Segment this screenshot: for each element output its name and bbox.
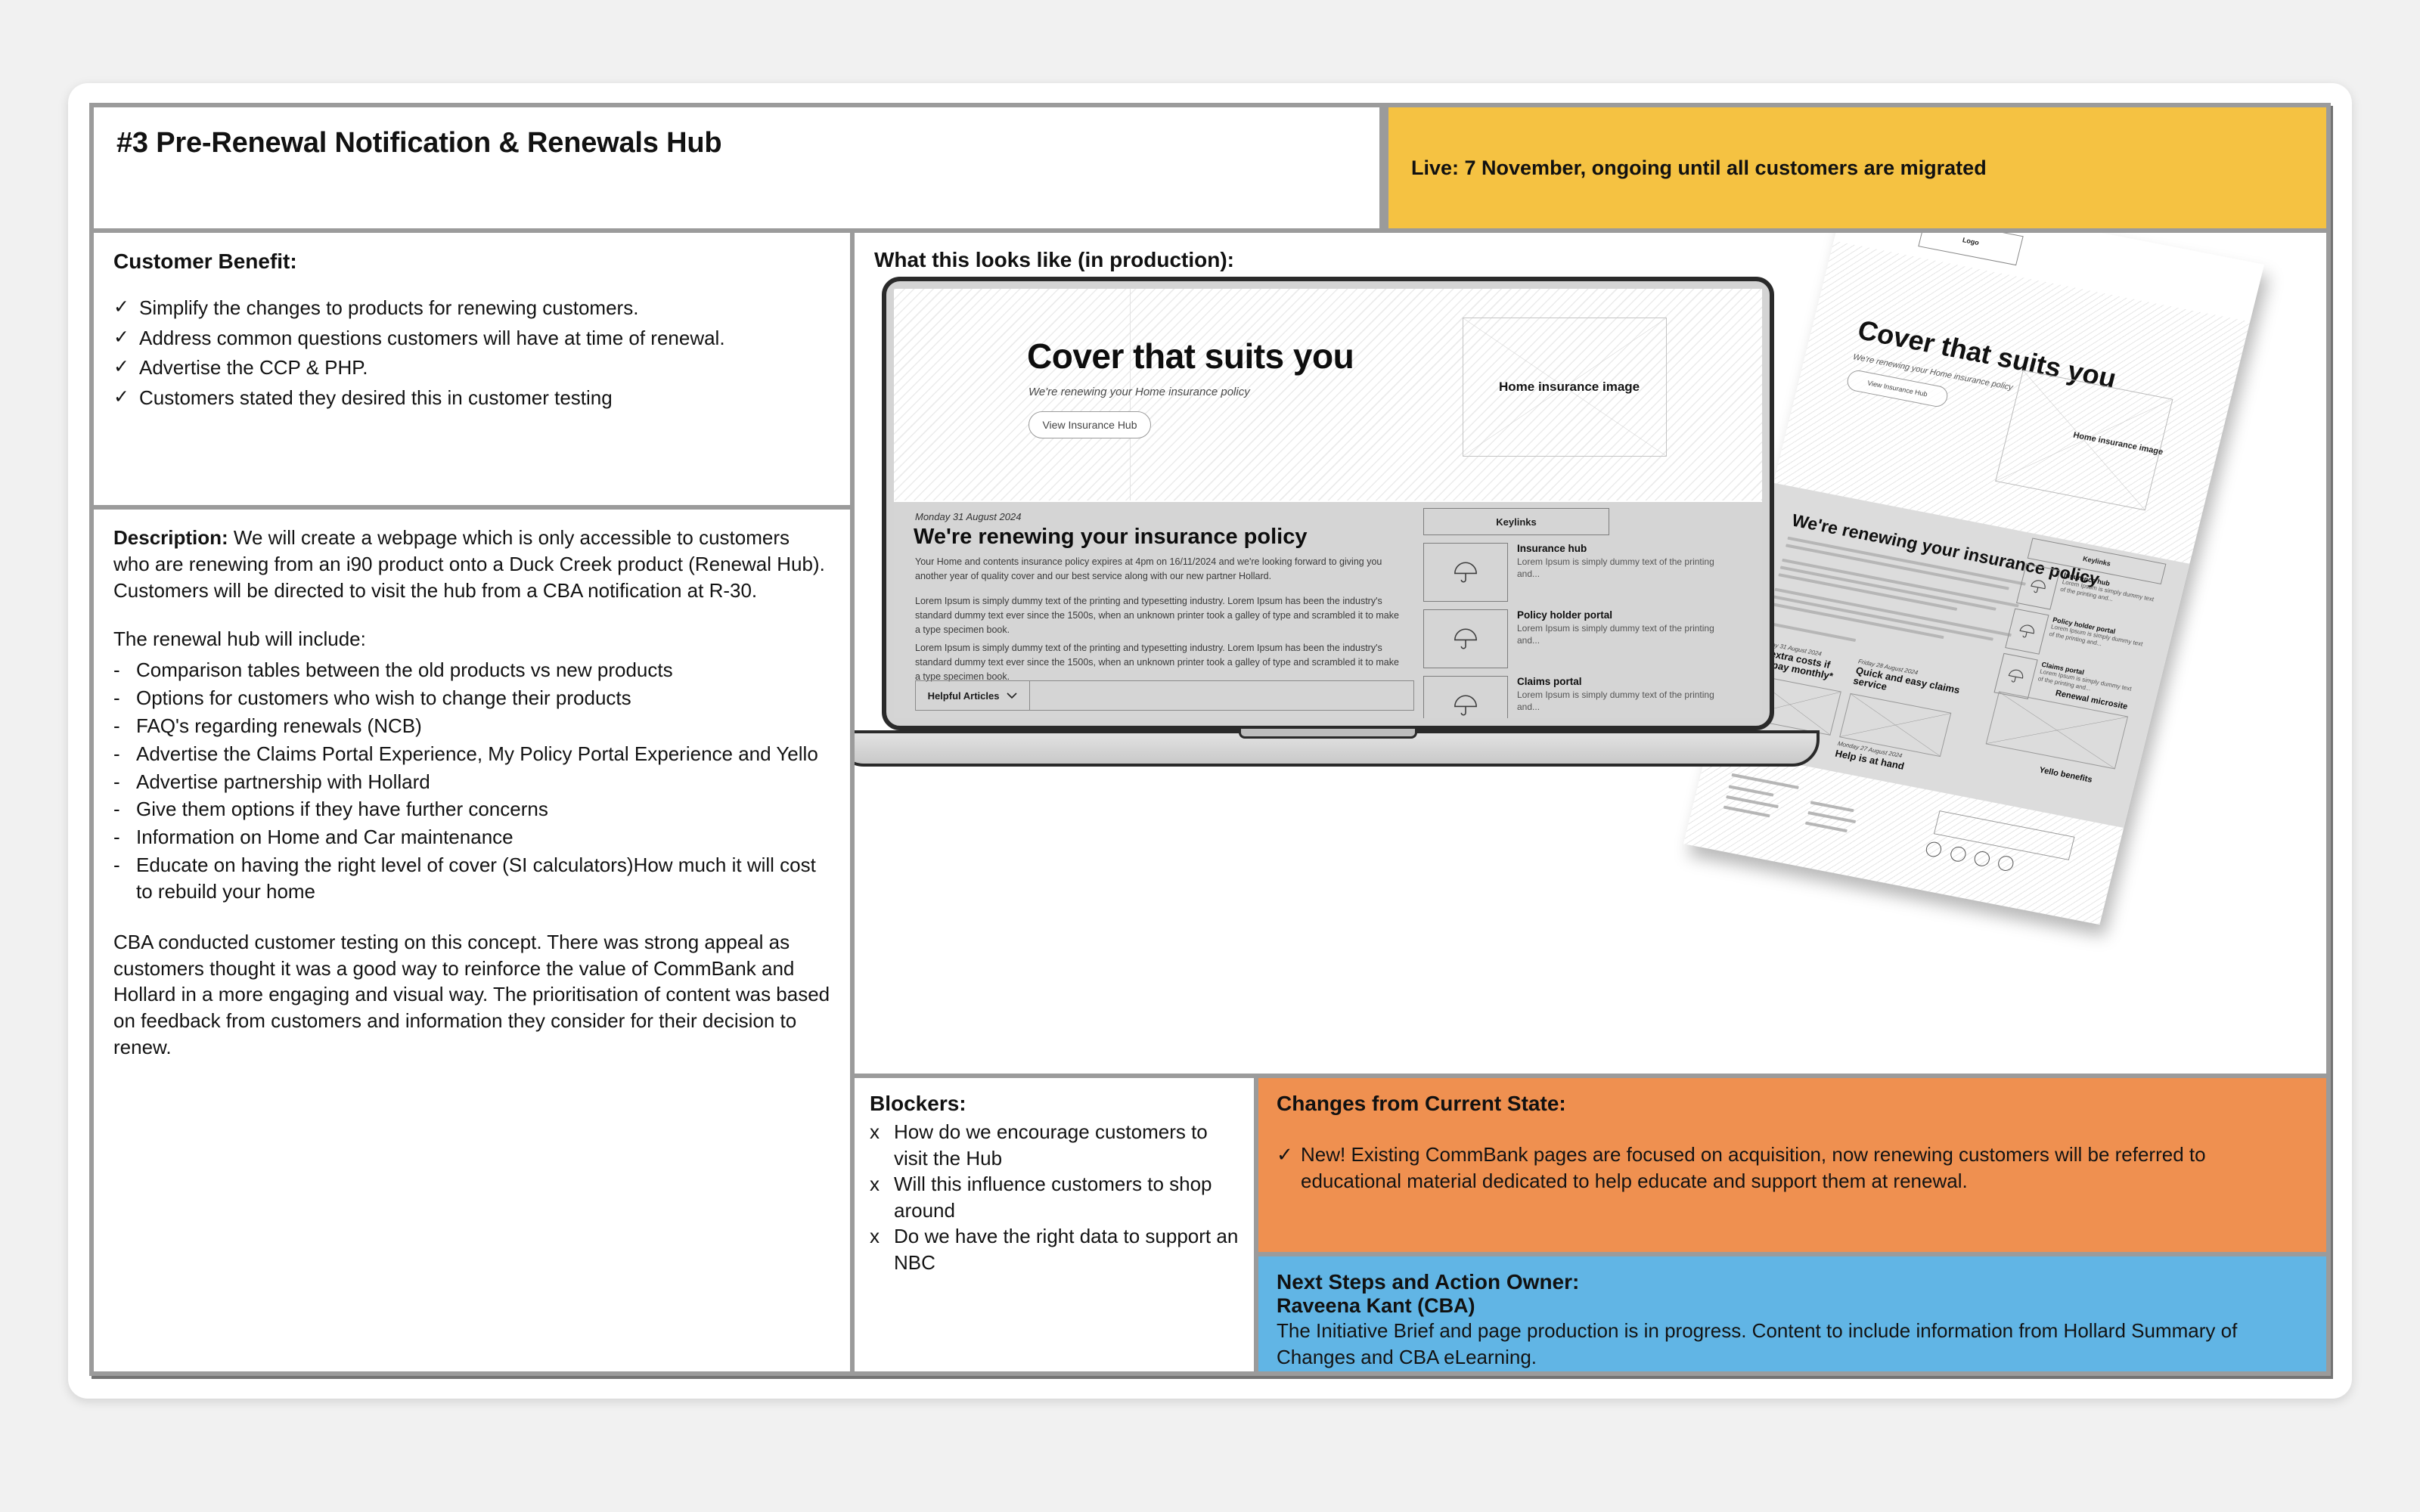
changes-body: New! Existing CommBank pages are focused… <box>1301 1142 2308 1194</box>
list-item-label: FAQ's regarding renewals (NCB) <box>136 713 422 739</box>
list-item-label: Address common questions customers will … <box>139 325 725 352</box>
dash-icon: - <box>113 852 136 905</box>
list-item-label: Comparison tables between the old produc… <box>136 657 673 683</box>
check-icon: ✓ <box>1277 1142 1301 1194</box>
next-steps-body: The Initiative Brief and page production… <box>1277 1318 2308 1371</box>
list-item-label: Give them options if they have further c… <box>136 796 548 823</box>
helpful-articles-bar: Helpful Articles <box>915 680 1414 711</box>
view-insurance-hub-button[interactable]: View Insurance Hub <box>1028 411 1151 438</box>
list-item: ✓ Customers stated they desired this in … <box>113 385 830 411</box>
keylink-title: Insurance hub <box>1517 543 1718 555</box>
list-item-label: Advertise the Claims Portal Experience, … <box>136 741 818 767</box>
keylink-item[interactable]: Insurance hub Lorem Ipsum is simply dumm… <box>1423 543 1718 602</box>
slide-title-cell: #3 Pre-Renewal Notification & Renewals H… <box>94 107 1379 228</box>
keylink-text: Lorem Ipsum is simply dummy text of the … <box>1517 689 1718 713</box>
changes-item: ✓ New! Existing CommBank pages are focus… <box>1277 1142 2308 1194</box>
list-item-label: Educate on having the right level of cov… <box>136 852 830 905</box>
live-status-badge: Live: 7 November, ongoing until all cust… <box>1388 107 2326 228</box>
description-list-intro: The renewal hub will include: <box>113 626 830 652</box>
laptop-mockup: Cover that suits you We're renewing your… <box>882 277 1774 767</box>
check-icon: ✓ <box>113 355 139 381</box>
umbrella-icon <box>1423 609 1508 668</box>
list-item: -Give them options if they have further … <box>113 796 830 823</box>
umbrella-icon <box>2005 609 2049 655</box>
list-item-label: Simplify the changes to products for ren… <box>139 295 638 321</box>
list-item-label: How do we encourage customers to visit t… <box>894 1119 1239 1171</box>
list-item: -Options for customers who wish to chang… <box>113 685 830 711</box>
article-paragraph: Your Home and contents insurance policy … <box>915 555 1399 584</box>
production-preview-section: What this looks like (in production): Lo… <box>855 233 2326 1074</box>
article-paragraph: Lorem Ipsum is simply dummy text of the … <box>915 641 1399 683</box>
list-item: xHow do we encourage customers to visit … <box>870 1119 1239 1171</box>
slide-grid: #3 Pre-Renewal Notification & Renewals H… <box>89 103 2331 1376</box>
umbrella-icon <box>1423 543 1508 602</box>
check-icon: ✓ <box>113 295 139 321</box>
list-item: xDo we have the right data to support an… <box>870 1223 1239 1275</box>
keylinks-panel: Keylinks Insurance hub Lorem Ipsum is si… <box>1423 508 1718 718</box>
next-steps-owner: Raveena Kant (CBA) <box>1277 1294 2308 1318</box>
blockers-section: Blockers: xHow do we encourage customers… <box>855 1078 1254 1371</box>
dash-icon: - <box>113 741 136 767</box>
list-item: ✓ Advertise the CCP & PHP. <box>113 355 830 381</box>
hero-subtitle: We're renewing your Home insurance polic… <box>1028 386 1250 398</box>
list-item-label: Do we have the right data to support an … <box>894 1223 1239 1275</box>
x-icon: x <box>870 1119 894 1171</box>
list-item-label: Options for customers who wish to change… <box>136 685 631 711</box>
live-status-text: Live: 7 November, ongoing until all cust… <box>1411 156 1987 180</box>
dash-icon: - <box>113 796 136 823</box>
list-item: -Comparison tables between the old produ… <box>113 657 830 683</box>
list-item-label: Advertise the CCP & PHP. <box>139 355 368 381</box>
description-closing: CBA conducted customer testing on this c… <box>113 929 830 1061</box>
dash-icon: - <box>113 657 136 683</box>
description-list: -Comparison tables between the old produ… <box>113 657 830 904</box>
list-item: -Educate on having the right level of co… <box>113 852 830 905</box>
keylink-text: Lorem Ipsum is simply dummy text of the … <box>1517 623 1718 646</box>
dash-icon: - <box>113 769 136 795</box>
list-item: ✓ Simplify the changes to products for r… <box>113 295 830 321</box>
list-item: xWill this influence customers to shop a… <box>870 1171 1239 1223</box>
description-label: Description: <box>113 526 228 549</box>
list-item: -Information on Home and Car maintenance <box>113 824 830 850</box>
umbrella-icon <box>1423 676 1508 718</box>
dash-icon: - <box>113 824 136 850</box>
description-section: Description: We will create a webpage wh… <box>94 510 850 1371</box>
list-item-label: Customers stated they desired this in cu… <box>139 385 613 411</box>
chevron-down-icon <box>1007 690 1017 702</box>
keylink-item[interactable]: Claims portal Lorem Ipsum is simply dumm… <box>1423 676 1718 718</box>
customer-benefit-section: Customer Benefit: ✓ Simplify the changes… <box>94 233 850 505</box>
paper-section-title: Yello benefits <box>2038 766 2093 785</box>
x-icon: x <box>870 1171 894 1223</box>
list-item: -FAQ's regarding renewals (NCB) <box>113 713 830 739</box>
laptop-base <box>855 730 1820 767</box>
list-item-label: Information on Home and Car maintenance <box>136 824 513 850</box>
dash-icon: - <box>113 713 136 739</box>
social-icon <box>1972 850 1990 867</box>
laptop-notch <box>1239 727 1417 739</box>
list-item: ✓ Address common questions customers wil… <box>113 325 830 352</box>
customer-benefit-heading: Customer Benefit: <box>113 249 830 274</box>
article-body: Monday 31 August 2024 We're renewing you… <box>894 502 1762 718</box>
social-icon <box>1925 841 1943 858</box>
laptop-screen: Cover that suits you We're renewing your… <box>894 289 1762 718</box>
keylink-title: Policy holder portal <box>1517 609 1718 621</box>
blockers-heading: Blockers: <box>870 1092 1239 1116</box>
list-item-label: Will this influence customers to shop ar… <box>894 1171 1239 1223</box>
page-title: #3 Pre-Renewal Notification & Renewals H… <box>116 127 1357 160</box>
laptop-lid: Cover that suits you We're renewing your… <box>882 277 1774 730</box>
changes-from-current-state-section: Changes from Current State: ✓ New! Exist… <box>1258 1078 2326 1252</box>
hero-image-label: Home insurance image <box>1499 380 1640 395</box>
hero-title: Cover that suits you <box>1027 336 1354 376</box>
keylink-item[interactable]: Policy holder portal Lorem Ipsum is simp… <box>1423 609 1718 668</box>
list-item: -Advertise partnership with Hollard <box>113 769 830 795</box>
next-steps-section: Next Steps and Action Owner: Raveena Kan… <box>1258 1256 2326 1371</box>
check-icon: ✓ <box>113 325 139 352</box>
helpful-articles-dropdown[interactable]: Helpful Articles <box>915 680 1030 711</box>
blockers-list: xHow do we encourage customers to visit … <box>870 1119 1239 1275</box>
article-title: We're renewing your insurance policy <box>914 525 1307 550</box>
article-paragraph: Lorem Ipsum is simply dummy text of the … <box>915 594 1399 637</box>
keylink-title: Claims portal <box>1517 676 1718 688</box>
helpful-articles-rest <box>1030 680 1414 711</box>
check-icon: ✓ <box>113 385 139 411</box>
list-item: -Advertise the Claims Portal Experience,… <box>113 741 830 767</box>
description-intro: Description: We will create a webpage wh… <box>113 525 830 603</box>
changes-heading: Changes from Current State: <box>1277 1092 2308 1116</box>
dash-icon: - <box>113 685 136 711</box>
social-icon <box>1949 845 1967 863</box>
next-steps-heading: Next Steps and Action Owner: <box>1277 1270 2308 1294</box>
slide-card: #3 Pre-Renewal Notification & Renewals H… <box>68 83 2352 1399</box>
keylink-text: Lorem Ipsum is simply dummy text of the … <box>1517 556 1718 580</box>
customer-benefit-list: ✓ Simplify the changes to products for r… <box>113 295 830 411</box>
helpful-articles-label: Helpful Articles <box>928 690 1000 702</box>
production-preview-stage: Logo Cover that suits you We're renewing… <box>855 233 2326 1074</box>
x-icon: x <box>870 1223 894 1275</box>
list-item-label: Advertise partnership with Hollard <box>136 769 430 795</box>
hero-banner: Cover that suits you We're renewing your… <box>894 289 1762 500</box>
social-icon <box>1996 854 2015 872</box>
article-date: Monday 31 August 2024 <box>915 511 1021 522</box>
keylinks-title: Keylinks <box>1423 508 1609 535</box>
